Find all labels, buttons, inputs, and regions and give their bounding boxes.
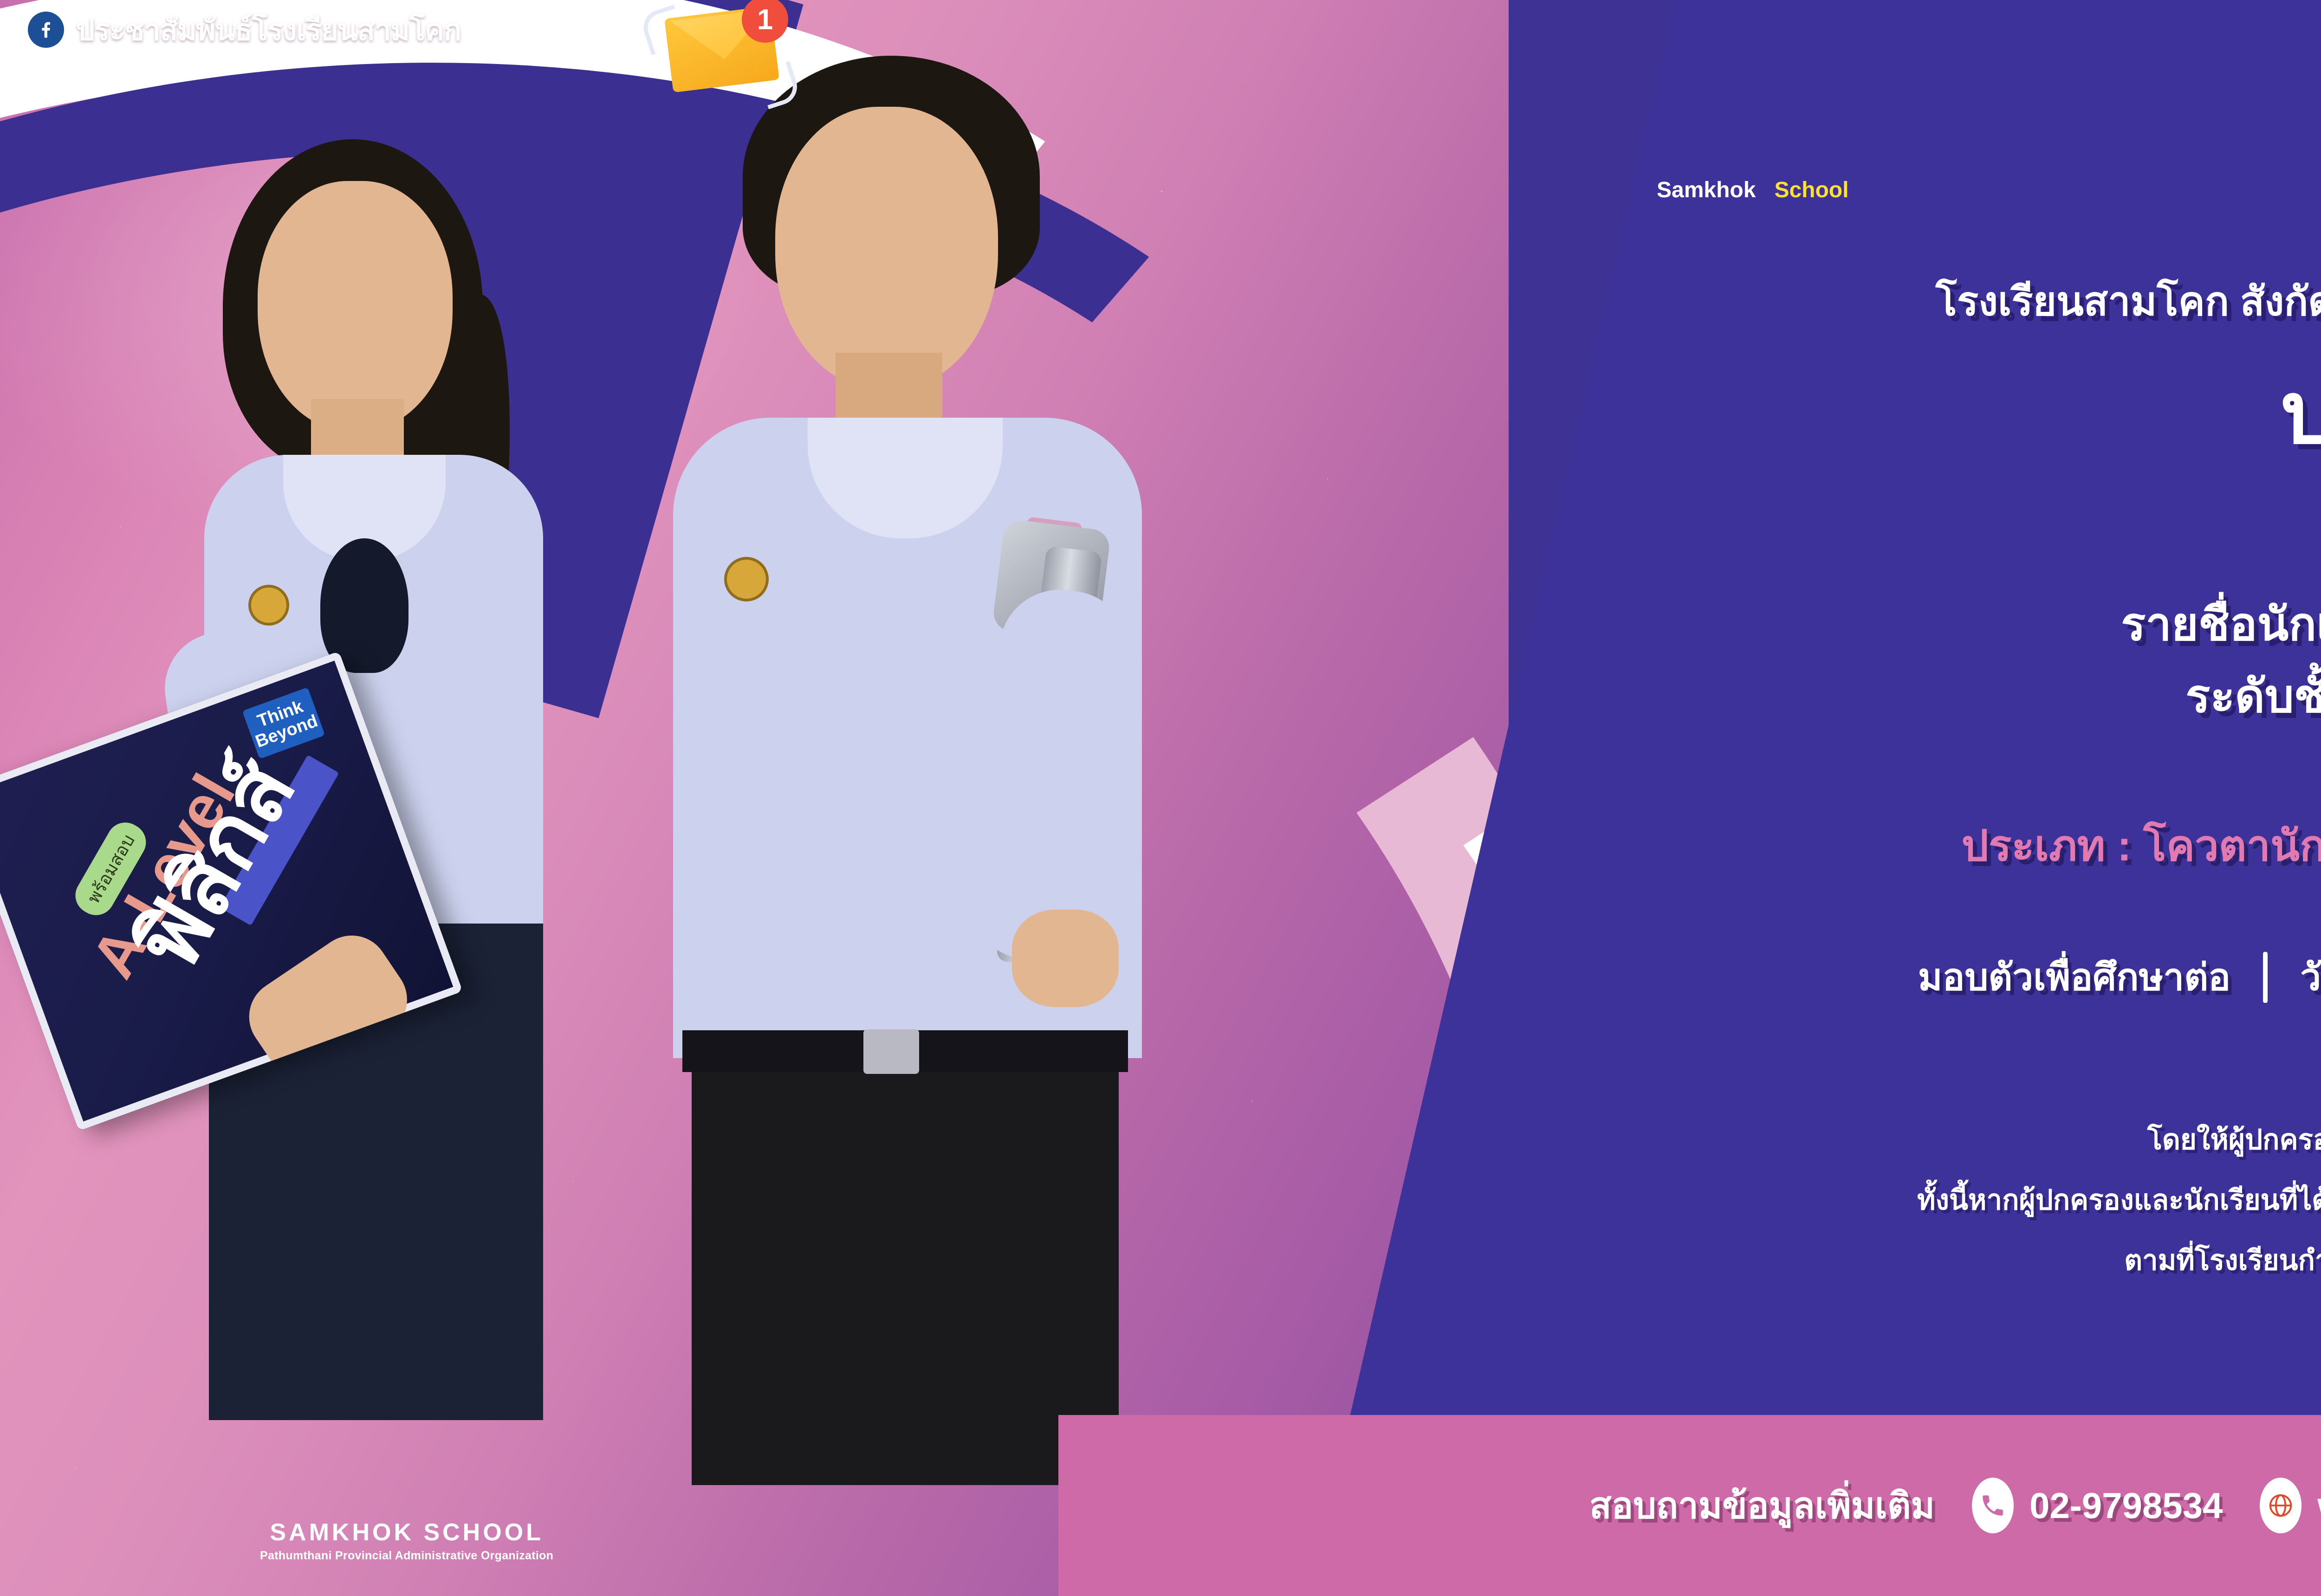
subtitle-line-1: รายชื่อนักเรียนมีสิทธิ์เข้ามอบตัว bbox=[1675, 587, 2321, 660]
purpose-label: มอบตัวเพื่อศึกษาต่อ bbox=[1918, 948, 2230, 1007]
organization-line: โรงเรียนสามโคก สังกัดองค์การบริหารส่วนจั… bbox=[1675, 269, 2321, 333]
date-row: มอบตัวเพื่อศึกษาต่อ วันที่ 5 เมษายน พ.ศ.… bbox=[1675, 948, 2321, 1007]
phone-number[interactable]: 02-9798534 bbox=[2029, 1485, 2223, 1527]
quota-category-line: ประเภท : โควตานักเรียนดี พฤติกรรมดี โรงเ… bbox=[1675, 811, 2321, 879]
contact-label: สอบถามข้อมูลเพิ่มเติม bbox=[1589, 1477, 1935, 1534]
subtitle-line-2: ระดับชั้นมัธยมศึกษาปีที่ 4 bbox=[1675, 659, 2321, 732]
crest-caption: Samkhok School bbox=[1657, 177, 1833, 203]
note-line-1: โดยให้ผู้ปกครองนำนักเรียนมามอบตัวด้วยตนเ… bbox=[1675, 1118, 2321, 1162]
facebook-icon[interactable] bbox=[28, 12, 64, 48]
phone-icon bbox=[1972, 1478, 2014, 1533]
crest-caption-name: Samkhok bbox=[1657, 178, 1756, 202]
poster-root: Think Beyond พร้อมสอบ A-Level ฟิสิกส์ bbox=[0, 0, 2321, 1596]
phone-contact[interactable]: 02-9798534 bbox=[1972, 1478, 2223, 1533]
page-title: ประกาศ bbox=[1675, 343, 2321, 481]
contact-footer: สอบถามข้อมูลเพิ่มเติม 02-9798534 www.sam… bbox=[1058, 1415, 2321, 1596]
left-photo-collage: Think Beyond พร้อมสอบ A-Level ฟิสิกส์ bbox=[0, 0, 1509, 1596]
envelope-icon: 1 bbox=[668, 12, 775, 86]
school-lockup-org: Pathumthani Provincial Administrative Or… bbox=[260, 1549, 553, 1563]
note-line-3: ตามที่โรงเรียนกำหนด ถือว่านักเรียนผู้นั้… bbox=[1675, 1238, 2321, 1282]
school-lockup-name: SAMKHOK SCHOOL bbox=[260, 1518, 553, 1546]
website-url[interactable]: www.samkhok.ac.th bbox=[2317, 1485, 2321, 1527]
globe-icon bbox=[2260, 1478, 2302, 1533]
crest-caption-school: School bbox=[1774, 178, 1848, 202]
facebook-page-banner[interactable]: ประชาสัมพันธ์โรงเรียนสามโคก bbox=[28, 6, 461, 53]
note-line-2: ทั้งนี้หากผู้ปกครองและนักเรียนที่ได้รับก… bbox=[1675, 1178, 2321, 1222]
date-time-value: วันที่ 5 เมษายน พ.ศ. 2569 เวลา 08.30 น. bbox=[2300, 948, 2321, 1007]
website-contact[interactable]: www.samkhok.ac.th bbox=[2260, 1478, 2321, 1533]
facebook-page-name[interactable]: ประชาสัมพันธ์โรงเรียนสามโคก bbox=[76, 6, 461, 53]
vertical-divider bbox=[2263, 952, 2268, 1003]
school-lockup: SAMKHOK SCHOOL Pathumthani Provincial Ad… bbox=[260, 1518, 553, 1563]
